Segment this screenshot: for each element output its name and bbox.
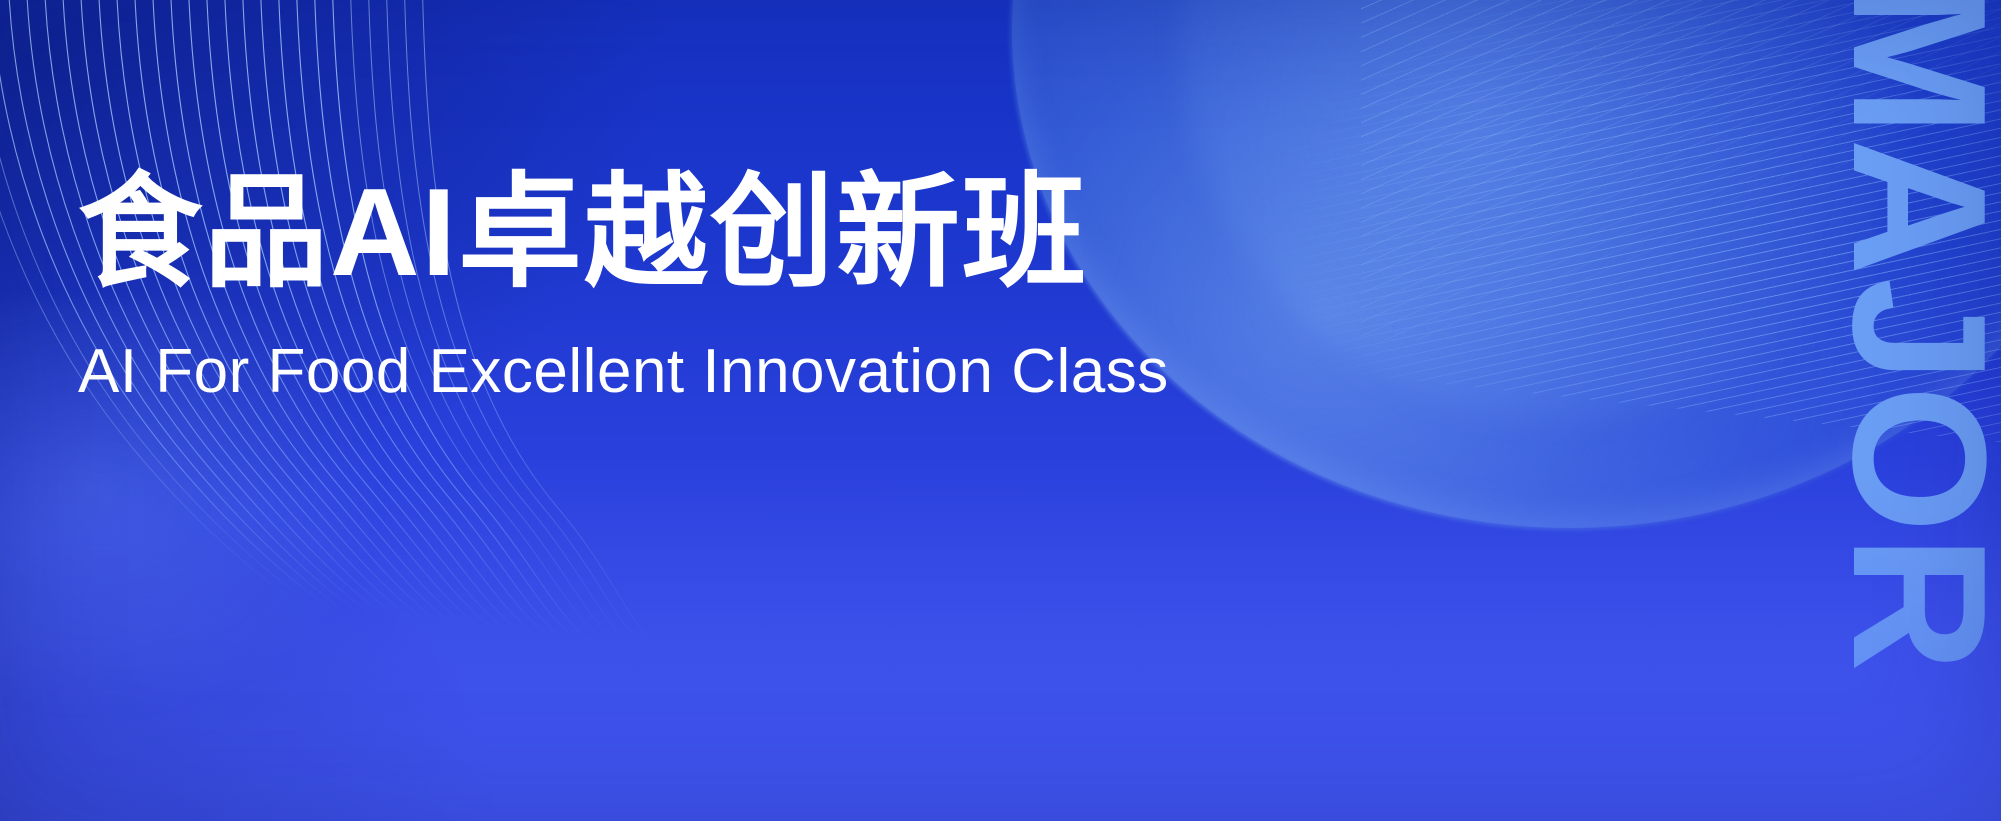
course-banner: MAJOR 食品AI卓越创新班 AI For Food Excellent In… xyxy=(0,0,2001,821)
edge-vignette xyxy=(0,0,2001,821)
